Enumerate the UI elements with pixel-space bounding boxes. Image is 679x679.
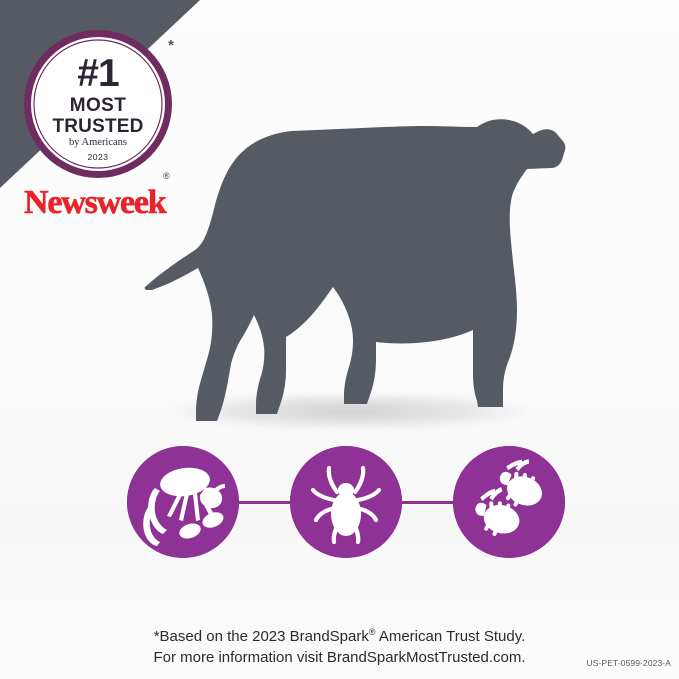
footer-line-1-pre: *Based on the 2023 BrandSpark: [154, 628, 369, 645]
badge-rank: #1: [22, 54, 174, 93]
footer-line-1: *Based on the 2023 BrandSpark® American …: [0, 622, 679, 647]
footer-line-1-post: American Trust Study.: [376, 628, 526, 645]
ground-shadow: [170, 396, 530, 430]
newsweek-logo: Newsweek: [24, 186, 194, 220]
most-trusted-badge: BrandSpark Most Trusted Awards #1 MOST T…: [22, 28, 174, 180]
badge-line2: TRUSTED: [22, 117, 174, 136]
benefit-icon-circle-flea: [127, 446, 239, 558]
product-infographic: BrandSpark Most Trusted Awards #1 MOST T…: [0, 0, 679, 679]
registered-mark-icon: ®: [163, 172, 170, 181]
badge-line1: MOST: [22, 96, 174, 115]
registered-symbol-icon: ®: [369, 627, 376, 637]
benefit-icon-circle-tick: [290, 446, 402, 558]
benefit-icons-row: [0, 446, 679, 558]
dog-silhouette: [145, 119, 566, 421]
newsweek-wordmark: Newsweek: [24, 186, 194, 220]
benefit-icon-circle-lice: [453, 446, 565, 558]
badge-year: 2023: [22, 153, 174, 162]
badge-line3: by Americans: [22, 138, 174, 149]
footer-disclaimer: *Based on the 2023 BrandSpark® American …: [0, 622, 679, 668]
document-code: US-PET-0599-2023-A: [587, 658, 671, 668]
asterisk-mark: *: [168, 38, 174, 53]
benefits-section: KILLS FLEAS, EGGS & LARVAE KILLS TICKS K…: [0, 446, 679, 558]
footer-line-2: For more information visit BrandSparkMos…: [0, 647, 679, 668]
